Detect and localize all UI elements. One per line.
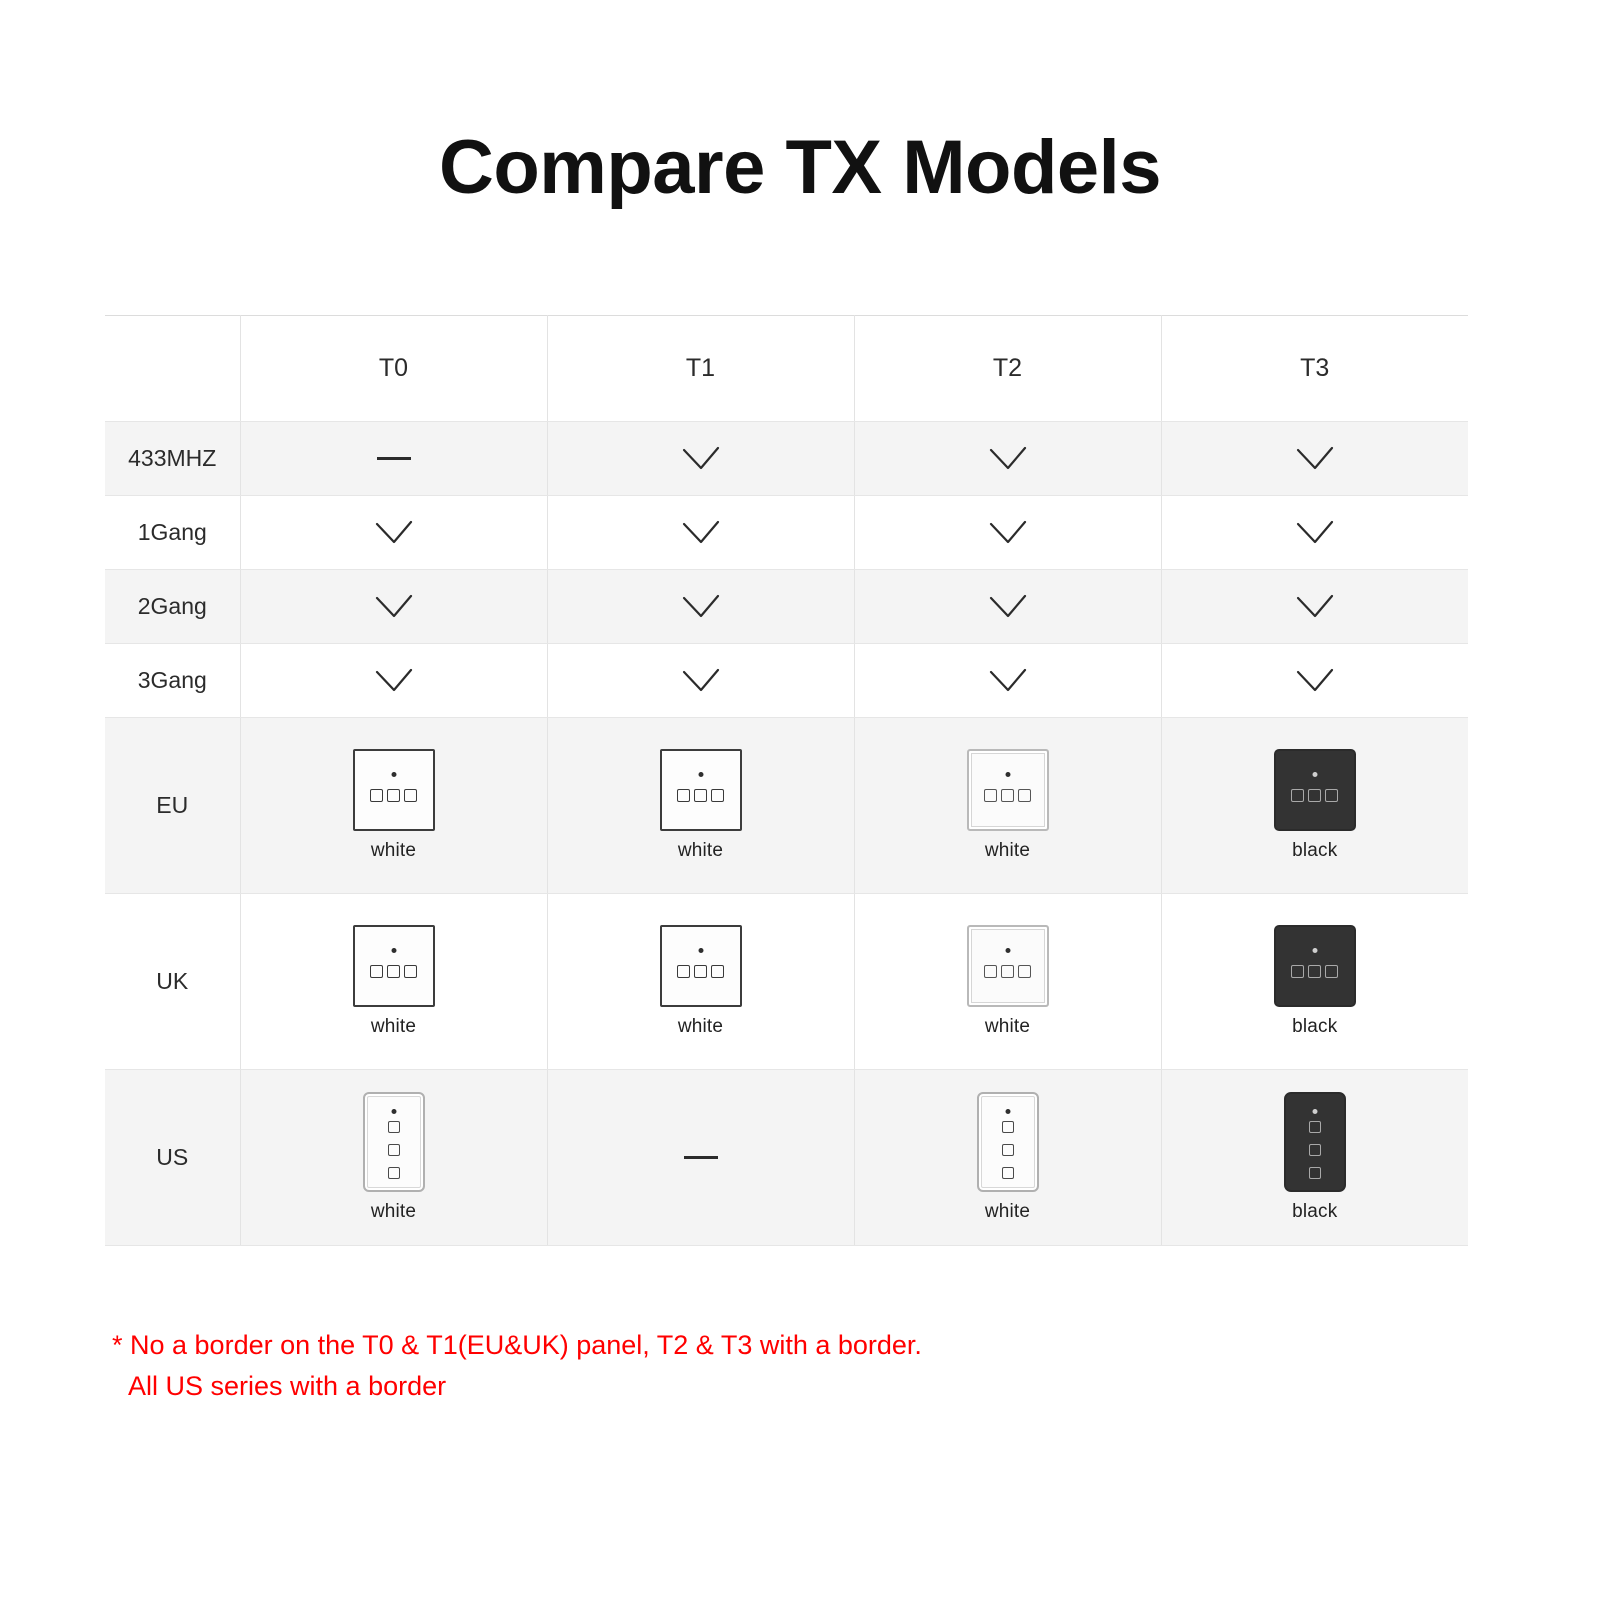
panel-touch-button <box>984 789 997 802</box>
switch-panel-white <box>660 749 742 831</box>
check-icon <box>989 668 1027 694</box>
cell-2gang-t1 <box>547 570 854 644</box>
cell-uk-t3: black <box>1161 894 1468 1070</box>
panel-button-column <box>1286 1121 1344 1179</box>
availability-mark <box>377 451 411 467</box>
panel-button-column <box>365 1121 423 1179</box>
product-cell: white <box>548 718 854 893</box>
cell-1gang-t1 <box>547 496 854 570</box>
panel-button-row <box>662 789 740 802</box>
panel-color-label: white <box>678 840 723 862</box>
led-indicator-icon <box>391 772 396 777</box>
header-row: T0 T1 T2 T3 <box>105 316 1468 422</box>
panel-color-label: white <box>985 840 1030 862</box>
led-indicator-icon <box>1005 1109 1010 1114</box>
cell-2gang-t3 <box>1161 570 1468 644</box>
panel-touch-button <box>370 965 383 978</box>
check-icon <box>1296 446 1334 472</box>
product-cell: black <box>1162 1070 1469 1245</box>
availability-mark <box>989 520 1027 546</box>
footnote-line-2: All US series with a border <box>112 1366 1312 1407</box>
row-label-1gang: 1Gang <box>105 496 240 570</box>
check-icon <box>682 446 720 472</box>
availability-mark <box>682 520 720 546</box>
cell-1gang-t3 <box>1161 496 1468 570</box>
led-indicator-icon <box>391 1109 396 1114</box>
table-header: T0 T1 T2 T3 <box>105 316 1468 422</box>
row-label-uk: UK <box>105 894 240 1070</box>
panel-touch-button <box>677 789 690 802</box>
panel-touch-button <box>387 789 400 802</box>
switch-panel-black <box>1274 925 1356 1007</box>
panel-touch-button <box>694 965 707 978</box>
compare-tx-models-table: T0 T1 T2 T3 433MHZ1Gang2Gang3GangEUwhite… <box>105 315 1468 1246</box>
comparison-table-wrapper: T0 T1 T2 T3 433MHZ1Gang2Gang3GangEUwhite… <box>105 315 1468 1246</box>
led-indicator-icon <box>1312 948 1317 953</box>
comparison-page: Compare TX Models T0 T1 T2 T3 433MHZ1Gan… <box>0 0 1600 1600</box>
product-cell: white <box>855 718 1161 893</box>
led-indicator-icon <box>698 772 703 777</box>
switch-panel-white <box>967 925 1049 1007</box>
availability-mark <box>375 520 413 546</box>
cell-us-t1 <box>547 1070 854 1246</box>
page-title: Compare TX Models <box>0 126 1600 210</box>
panel-color-label: black <box>1292 1201 1337 1223</box>
panel-color-label: white <box>985 1201 1030 1223</box>
cell-2gang-t2 <box>854 570 1161 644</box>
panel-touch-button <box>1309 1144 1321 1156</box>
led-indicator-icon <box>698 948 703 953</box>
check-icon <box>1296 594 1334 620</box>
cell-us-t0: white <box>240 1070 547 1246</box>
panel-touch-button <box>1308 789 1321 802</box>
cell-eu-t3: black <box>1161 718 1468 894</box>
check-icon <box>375 520 413 546</box>
row-label-3gang: 3Gang <box>105 644 240 718</box>
check-icon <box>989 446 1027 472</box>
product-cell: white <box>855 894 1161 1069</box>
product-cell: black <box>1162 718 1469 893</box>
footnote: * No a border on the T0 & T1(EU&UK) pane… <box>112 1325 1312 1406</box>
panel-touch-button <box>1002 1167 1014 1179</box>
panel-touch-button <box>387 965 400 978</box>
availability-mark <box>375 594 413 620</box>
panel-color-label: white <box>985 1016 1030 1038</box>
cell-eu-t0: white <box>240 718 547 894</box>
panel-button-row <box>355 789 433 802</box>
panel-touch-button <box>1325 965 1338 978</box>
product-cell: black <box>1162 894 1469 1069</box>
panel-touch-button <box>711 965 724 978</box>
availability-mark <box>989 446 1027 472</box>
table-row: UKwhitewhitewhiteblack <box>105 894 1468 1070</box>
availability-mark <box>989 594 1027 620</box>
panel-button-row <box>662 965 740 978</box>
table-row: 2Gang <box>105 570 1468 644</box>
cell-433mhz-t2 <box>854 422 1161 496</box>
panel-touch-button <box>1308 965 1321 978</box>
availability-mark <box>682 446 720 472</box>
panel-touch-button <box>1018 789 1031 802</box>
cell-433mhz-t3 <box>1161 422 1468 496</box>
cell-3gang-t3 <box>1161 644 1468 718</box>
check-icon <box>375 668 413 694</box>
table-body: 433MHZ1Gang2Gang3GangEUwhitewhitewhitebl… <box>105 422 1468 1246</box>
product-cell <box>548 1070 854 1245</box>
panel-color-label: white <box>371 1016 416 1038</box>
availability-mark <box>1296 446 1334 472</box>
cell-uk-t1: white <box>547 894 854 1070</box>
cell-us-t3: black <box>1161 1070 1468 1246</box>
product-cell: white <box>241 1070 547 1245</box>
panel-touch-button <box>370 789 383 802</box>
panel-button-row <box>969 965 1047 978</box>
panel-touch-button <box>1018 965 1031 978</box>
row-label-433mhz: 433MHZ <box>105 422 240 496</box>
switch-panel-white <box>967 749 1049 831</box>
cell-eu-t1: white <box>547 718 854 894</box>
check-icon <box>682 520 720 546</box>
cell-3gang-t0 <box>240 644 547 718</box>
switch-panel-white <box>363 1092 425 1192</box>
panel-touch-button <box>1325 789 1338 802</box>
panel-touch-button <box>388 1121 400 1133</box>
switch-panel-white <box>353 749 435 831</box>
check-icon <box>682 668 720 694</box>
switch-panel-white <box>660 925 742 1007</box>
panel-button-column <box>979 1121 1037 1179</box>
cell-uk-t2: white <box>854 894 1161 1070</box>
row-label-eu: EU <box>105 718 240 894</box>
led-indicator-icon <box>1312 1109 1317 1114</box>
availability-mark <box>1296 594 1334 620</box>
column-header-t2: T2 <box>854 316 1161 422</box>
table-row: 433MHZ <box>105 422 1468 496</box>
cell-uk-t0: white <box>240 894 547 1070</box>
panel-touch-button <box>388 1167 400 1179</box>
switch-panel-black <box>1274 749 1356 831</box>
panel-color-label: white <box>371 1201 416 1223</box>
table-corner-cell <box>105 316 240 422</box>
switch-panel-white <box>977 1092 1039 1192</box>
table-row: 1Gang <box>105 496 1468 570</box>
product-cell: white <box>241 894 547 1069</box>
check-icon <box>989 594 1027 620</box>
footnote-line-1: * No a border on the T0 & T1(EU&UK) pane… <box>112 1325 1312 1366</box>
row-label-2gang: 2Gang <box>105 570 240 644</box>
row-label-us: US <box>105 1070 240 1246</box>
panel-touch-button <box>984 965 997 978</box>
panel-touch-button <box>711 789 724 802</box>
availability-mark <box>682 594 720 620</box>
panel-touch-button <box>1309 1167 1321 1179</box>
cell-433mhz-t1 <box>547 422 854 496</box>
cell-eu-t2: white <box>854 718 1161 894</box>
panel-touch-button <box>677 965 690 978</box>
panel-button-row <box>1276 789 1354 802</box>
panel-touch-button <box>1309 1121 1321 1133</box>
cell-1gang-t0 <box>240 496 547 570</box>
panel-touch-button <box>1291 789 1304 802</box>
led-indicator-icon <box>1005 772 1010 777</box>
panel-color-label: white <box>678 1016 723 1038</box>
panel-touch-button <box>694 789 707 802</box>
column-header-t0: T0 <box>240 316 547 422</box>
table-row: 3Gang <box>105 644 1468 718</box>
check-icon <box>989 520 1027 546</box>
panel-touch-button <box>1001 965 1014 978</box>
dash-icon <box>377 457 411 460</box>
cell-433mhz-t0 <box>240 422 547 496</box>
column-header-t1: T1 <box>547 316 854 422</box>
panel-touch-button <box>1001 789 1014 802</box>
panel-button-row <box>1276 965 1354 978</box>
panel-color-label: white <box>371 840 416 862</box>
check-icon <box>1296 668 1334 694</box>
switch-panel-black <box>1284 1092 1346 1192</box>
led-indicator-icon <box>1312 772 1317 777</box>
check-icon <box>375 594 413 620</box>
cell-2gang-t0 <box>240 570 547 644</box>
product-cell: white <box>241 718 547 893</box>
product-cell: white <box>548 894 854 1069</box>
switch-panel-white <box>353 925 435 1007</box>
check-icon <box>682 594 720 620</box>
led-indicator-icon <box>391 948 396 953</box>
panel-touch-button <box>404 965 417 978</box>
cell-3gang-t1 <box>547 644 854 718</box>
panel-button-row <box>969 789 1047 802</box>
panel-touch-button <box>404 789 417 802</box>
led-indicator-icon <box>1005 948 1010 953</box>
cell-us-t2: white <box>854 1070 1161 1246</box>
table-row: USwhitewhiteblack <box>105 1070 1468 1246</box>
panel-button-row <box>355 965 433 978</box>
panel-touch-button <box>1002 1144 1014 1156</box>
dash-icon <box>684 1156 718 1159</box>
availability-mark <box>682 668 720 694</box>
availability-mark <box>375 668 413 694</box>
availability-mark <box>1296 520 1334 546</box>
cell-3gang-t2 <box>854 644 1161 718</box>
panel-color-label: black <box>1292 840 1337 862</box>
availability-mark <box>989 668 1027 694</box>
check-icon <box>1296 520 1334 546</box>
cell-1gang-t2 <box>854 496 1161 570</box>
panel-touch-button <box>1291 965 1304 978</box>
product-cell: white <box>855 1070 1161 1245</box>
table-row: EUwhitewhitewhiteblack <box>105 718 1468 894</box>
panel-touch-button <box>388 1144 400 1156</box>
availability-mark <box>1296 668 1334 694</box>
panel-touch-button <box>1002 1121 1014 1133</box>
panel-color-label: black <box>1292 1016 1337 1038</box>
column-header-t3: T3 <box>1161 316 1468 422</box>
